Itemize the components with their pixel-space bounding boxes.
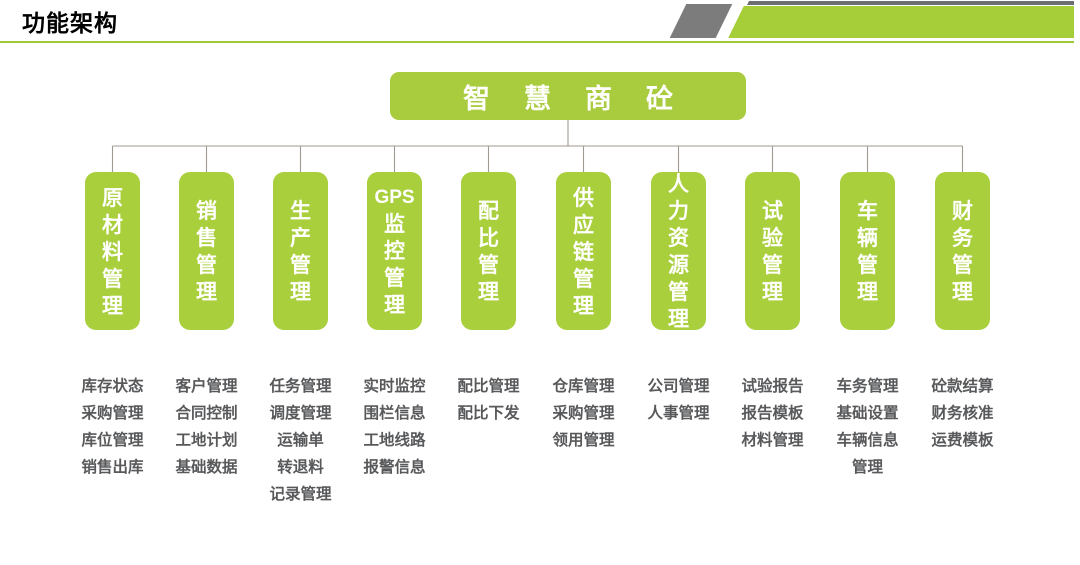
node-box-experiment[interactable]: 试验管理 [745,172,800,330]
page-title: 功能架构 [22,4,118,38]
node-label-char: 材 [102,212,123,239]
leaf-item[interactable]: 基础数据 [159,454,255,481]
leaf-item[interactable]: 客户管理 [159,373,255,400]
node-label-char: 理 [478,279,499,306]
node-label-char: 车 [857,198,878,225]
leaf-item[interactable]: 库存状态 [65,373,161,400]
leaf-item[interactable]: 工地线路 [347,427,443,454]
leaf-item[interactable]: 财务核准 [915,400,1011,427]
node-label-char: 销 [196,198,217,225]
leaf-item[interactable]: 记录管理 [253,481,349,508]
node-label-char: 控 [384,238,405,265]
leaf-item[interactable]: 报告模板 [725,400,821,427]
leaf-item[interactable]: 车辆信息 [820,427,916,454]
node-label-char: 管 [668,279,689,306]
node-label-char: 配 [478,198,499,225]
leaf-item[interactable]: 人事管理 [631,400,727,427]
node-label-char: 资 [668,225,689,252]
banner-edge-mask [1074,0,1080,45]
node-label-char: 理 [102,293,123,320]
leaf-item[interactable]: 公司管理 [631,373,727,400]
node-label-char: 原 [102,185,123,212]
node-label-char: 管 [857,252,878,279]
node-label-char: 管 [196,252,217,279]
leaf-item[interactable]: 材料管理 [725,427,821,454]
node-label-char: 理 [196,279,217,306]
node-label-char: 理 [952,279,973,306]
leaf-item[interactable]: 车务管理 [820,373,916,400]
green-parallelogram-shape [728,6,1080,38]
leaf-list-vehicle: 车务管理基础设置车辆信息管理 [820,373,916,481]
node-label-char: 管 [478,252,499,279]
leaf-item[interactable]: 砼款结算 [915,373,1011,400]
node-box-mix-ratio[interactable]: 配比管理 [461,172,516,330]
leaf-list-supply-chain: 仓库管理采购管理领用管理 [536,373,632,454]
node-label-char: 生 [290,198,311,225]
node-box-production[interactable]: 生产管理 [273,172,328,330]
node-label-char: 理 [290,279,311,306]
node-label-char: 源 [668,252,689,279]
node-box-supply-chain[interactable]: 供应链管理 [556,172,611,330]
node-label-char: 理 [762,279,783,306]
leaf-item[interactable]: 工地计划 [159,427,255,454]
node-label-char: 监 [384,211,405,238]
leaf-item[interactable]: 采购管理 [65,400,161,427]
leaf-item[interactable]: 转退料 [253,454,349,481]
node-box-vehicle[interactable]: 车辆管理 [840,172,895,330]
gray-parallelogram-shape [670,4,733,38]
leaf-item[interactable]: 配比下发 [441,400,537,427]
node-label-char: 产 [290,225,311,252]
leaf-item[interactable]: 报警信息 [347,454,443,481]
node-label-latin: GPS [374,185,414,211]
dark-gray-stripe-shape [747,1,1080,5]
node-label-char: 管 [290,252,311,279]
node-label-char: 验 [762,225,783,252]
node-label-char: 管 [384,265,405,292]
node-label-char: 人 [668,171,689,198]
node-label-char: 理 [573,293,594,320]
node-label-char: 理 [384,292,405,319]
leaf-list-production: 任务管理调度管理运输单转退料记录管理 [253,373,349,508]
node-label-char: 供 [573,185,594,212]
leaf-item[interactable]: 试验报告 [725,373,821,400]
node-box-finance[interactable]: 财务管理 [935,172,990,330]
node-label-char: 比 [478,225,499,252]
leaf-list-sales: 客户管理合同控制工地计划基础数据 [159,373,255,481]
leaf-item[interactable]: 任务管理 [253,373,349,400]
leaf-list-mix-ratio: 配比管理配比下发 [441,373,537,427]
leaf-item[interactable]: 配比管理 [441,373,537,400]
leaf-item[interactable]: 运费模板 [915,427,1011,454]
node-box-sales[interactable]: 销售管理 [179,172,234,330]
leaf-item[interactable]: 领用管理 [536,427,632,454]
node-label-char: 售 [196,225,217,252]
leaf-item[interactable]: 实时监控 [347,373,443,400]
node-label-char: 力 [668,198,689,225]
root-node-smart-concrete[interactable]: 智慧商砼 [390,72,746,120]
leaf-list-raw-material: 库存状态采购管理库位管理销售出库 [65,373,161,481]
leaf-item[interactable]: 仓库管理 [536,373,632,400]
leaf-item[interactable]: 采购管理 [536,400,632,427]
node-label-char: 管 [102,266,123,293]
node-box-human-resource[interactable]: 人力资源管理 [651,172,706,330]
node-label-char: 管 [952,252,973,279]
node-label-char: 理 [668,306,689,333]
node-label-char: 应 [573,212,594,239]
leaf-list-finance: 砼款结算财务核准运费模板 [915,373,1011,454]
leaf-item[interactable]: 库位管理 [65,427,161,454]
leaf-item[interactable]: 销售出库 [65,454,161,481]
node-label-char: 财 [952,198,973,225]
node-label-char: 辆 [857,225,878,252]
leaf-item[interactable]: 调度管理 [253,400,349,427]
leaf-item[interactable]: 管理 [820,454,916,481]
node-label-char: 理 [857,279,878,306]
leaf-list-experiment: 试验报告报告模板材料管理 [725,373,821,454]
leaf-item[interactable]: 围栏信息 [347,400,443,427]
node-box-raw-material[interactable]: 原材料管理 [85,172,140,330]
node-label-char: 管 [762,252,783,279]
node-label-char: 管 [573,266,594,293]
node-box-gps-monitor[interactable]: GPS监控管理 [367,172,422,330]
page-header: 功能架构 [0,0,1080,45]
leaf-list-gps-monitor: 实时监控围栏信息工地线路报警信息 [347,373,443,481]
leaf-item[interactable]: 运输单 [253,427,349,454]
header-banner-decoration [670,0,1080,42]
node-label-char: 料 [102,239,123,266]
leaf-list-human-resource: 公司管理人事管理 [631,373,727,427]
node-label-char: 务 [952,225,973,252]
leaf-item[interactable]: 基础设置 [820,400,916,427]
node-label-char: 链 [573,239,594,266]
node-label-char: 试 [762,198,783,225]
leaf-item[interactable]: 合同控制 [159,400,255,427]
